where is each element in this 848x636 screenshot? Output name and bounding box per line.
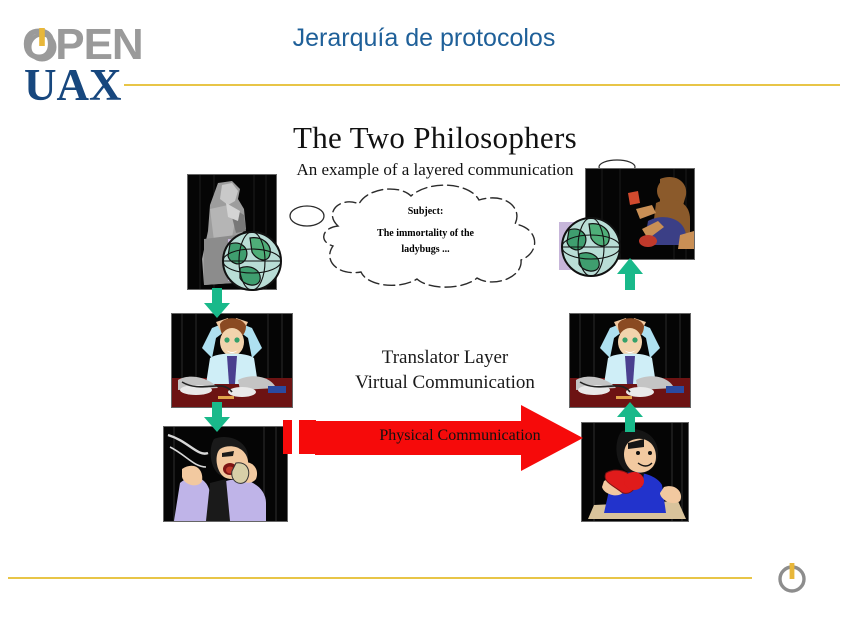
globe-icon-right: [559, 216, 623, 278]
power-icon-footer: [775, 560, 809, 594]
thought-cloud-heading: Subject:: [283, 204, 568, 220]
figure-title: The Two Philosophers: [155, 120, 715, 156]
thought-cloud-line1: The immortality of the: [377, 228, 474, 239]
secretary-right-image: [581, 422, 689, 522]
footer-divider: [8, 577, 752, 579]
page-title: Jerarquía de protocolos: [0, 24, 848, 53]
translator-right-image: [569, 313, 691, 408]
physical-communication-label: Physical Communication: [345, 427, 575, 445]
translator-left-image: [171, 313, 293, 408]
physical-dash-2: [299, 420, 316, 454]
translator-layer-line1: Translator Layer: [382, 347, 508, 368]
translator-layer-label: Translator Layer Virtual Communication: [335, 345, 555, 395]
translator-layer-line2: Virtual Communication: [355, 372, 535, 393]
physical-dash-1: [283, 420, 292, 454]
two-philosophers-figure: The Two Philosophers An example of a lay…: [155, 120, 715, 520]
secretary-left-image: [163, 426, 288, 522]
slide-canvas: OPEN UAX Jerarquía de protocolos The Two…: [0, 0, 848, 636]
thought-cloud-text: Subject: The immortality of the ladybugs…: [283, 204, 568, 258]
globe-icon-left: [220, 230, 284, 292]
arrow-down-left-upper: [203, 288, 231, 318]
arrow-up-right-upper: [616, 258, 644, 290]
header-divider: [124, 84, 840, 86]
logo-uax-text: UAX: [24, 62, 122, 108]
arrow-up-right-lower: [616, 402, 644, 432]
arrow-down-left-lower: [203, 402, 231, 432]
thought-cloud-line2: ladybugs ...: [401, 244, 449, 255]
